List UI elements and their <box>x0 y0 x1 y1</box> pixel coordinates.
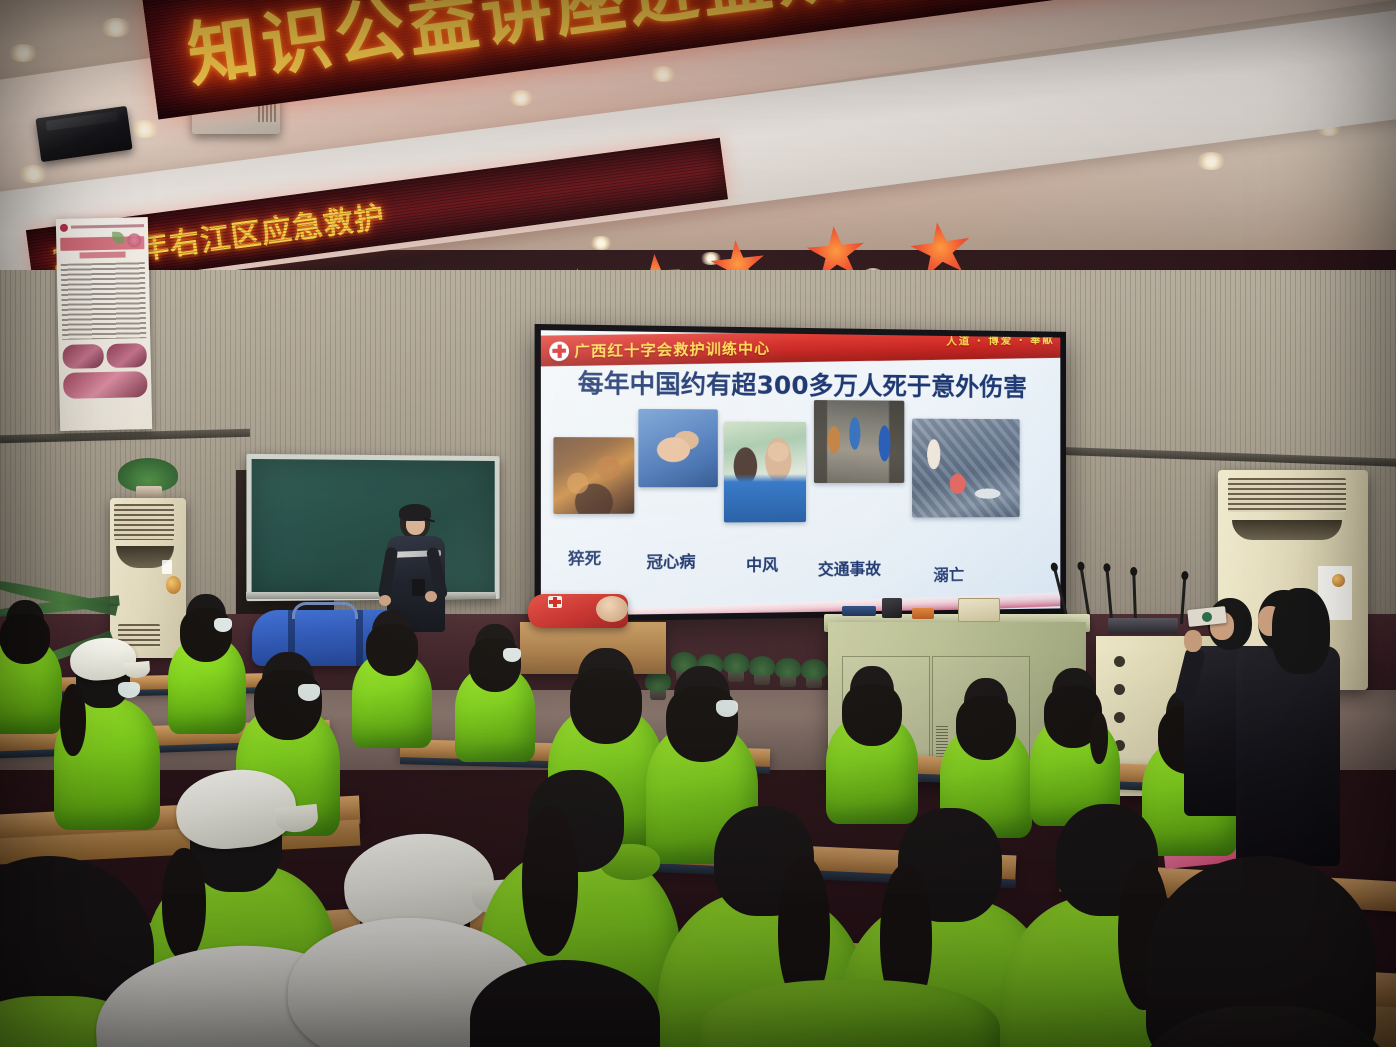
wall-poster <box>56 217 152 431</box>
ac-air-outlet <box>1232 520 1342 540</box>
observer-hand <box>1184 630 1202 652</box>
slide-photo-stroke <box>724 422 806 523</box>
podium-equipment-orange <box>912 608 934 619</box>
poster-leaf-icon <box>112 232 124 244</box>
presenter-remote <box>412 579 425 596</box>
slide-label-stroke: 中风 <box>746 551 778 575</box>
potted-plant-icon <box>780 674 796 687</box>
slide-label-coronary-disease: 冠心病 <box>647 548 696 573</box>
green-chalkboard <box>246 454 499 601</box>
podium-equipment-laptop <box>842 606 876 616</box>
ponytail <box>1090 712 1108 764</box>
poster-photo <box>106 343 147 368</box>
poster-photo <box>62 344 103 369</box>
downlight-icon <box>1196 152 1226 170</box>
audience-hair <box>180 608 232 662</box>
slide-label-drowning: 溺亡 <box>933 562 964 586</box>
slide-label-row: 猝死 冠心病 中风 交通事故 溺亡 <box>549 537 1053 581</box>
ponytail <box>522 806 578 956</box>
downlight-icon <box>8 44 38 62</box>
face-mask <box>716 700 738 717</box>
potted-plant-icon <box>806 675 822 688</box>
audience-hair <box>842 684 902 746</box>
duffel-handle <box>292 602 358 619</box>
slide-photo-drowning <box>912 419 1020 518</box>
face-mask <box>503 648 521 662</box>
downlight-icon <box>18 165 48 183</box>
observer-hair <box>1272 588 1330 674</box>
slide-photo-row <box>551 398 1052 542</box>
potted-plant-icon <box>728 669 744 682</box>
slide-content: 广西红十字会救护训练中心 人道 · 博爱 · 奉献 每年中国约有超300多万人死… <box>541 330 1060 616</box>
downlight-icon <box>508 90 534 106</box>
downlight-icon <box>650 66 676 82</box>
slide-org-name: 广西红十字会救护训练中心 <box>574 337 770 361</box>
potted-plant-icon <box>754 672 770 685</box>
audience-hair <box>570 668 642 744</box>
poster-logo-text <box>71 224 144 229</box>
face-mask <box>298 684 320 701</box>
red-cross-logo-icon <box>60 223 68 231</box>
downlight-icon <box>130 120 160 138</box>
podium-equipment-speaker <box>882 598 902 618</box>
poster-photo <box>63 371 148 399</box>
ponytail <box>162 848 206 960</box>
poster-photo-row <box>62 343 146 369</box>
ac-knob-icon[interactable] <box>166 576 181 594</box>
slide-photo-traffic-accident <box>814 400 904 483</box>
slide-label-sudden-death: 猝死 <box>568 544 601 569</box>
audience-hair <box>956 696 1016 760</box>
presenter-hand-left <box>379 595 391 606</box>
presenter-hand-right <box>425 591 437 602</box>
audience-hair <box>254 670 322 740</box>
face-mask <box>214 618 232 632</box>
lecture-hall-photo: 知识公益讲座进益众公司专场培训 2020年右江区应急救护 <box>0 0 1396 1047</box>
chalkboard-tray <box>246 592 496 599</box>
slide-photo-crowd-collapse <box>553 437 634 514</box>
audience-hair <box>666 686 738 762</box>
poster-logo <box>60 221 144 232</box>
potted-plant-icon <box>650 687 666 700</box>
ponytail <box>60 684 86 756</box>
phone-camera-lens-icon <box>1202 612 1212 622</box>
cabinet-hole <box>1114 684 1125 695</box>
slide-org-banner: 广西红十字会救护训练中心 人道 · 博爱 · 奉献 <box>541 330 1060 366</box>
downlight-icon <box>590 236 612 250</box>
slide-motto: 人道 · 博爱 · 奉献 <box>946 332 1054 349</box>
observer-coat <box>1236 646 1340 866</box>
ac-grille <box>1228 478 1346 512</box>
poster-subtitle <box>79 252 125 259</box>
audience-hair <box>366 624 418 676</box>
slide-label-traffic-accident: 交通事故 <box>818 555 881 580</box>
cabinet-hole <box>1114 712 1125 723</box>
cabinet-hole <box>1114 656 1125 667</box>
slide-photo-chest-pain <box>638 409 717 487</box>
manikin-head <box>596 596 628 622</box>
downlight-icon <box>100 18 132 37</box>
poster-body-text <box>61 262 147 340</box>
rack-top-equipment <box>1108 618 1178 634</box>
face-mask <box>118 682 140 698</box>
ac-knob-icon[interactable] <box>1332 574 1345 587</box>
ac-grille <box>114 504 174 540</box>
red-cross-icon <box>549 341 569 361</box>
projection-screen: 广西红十字会救护训练中心 人道 · 博爱 · 奉献 每年中国约有超300多万人死… <box>535 324 1066 622</box>
audience-hair <box>469 638 521 692</box>
audience-hair <box>0 614 50 664</box>
manikin-red-cross-icon <box>548 596 562 608</box>
podium-equipment-box <box>958 598 1000 622</box>
ac-label <box>162 560 172 574</box>
